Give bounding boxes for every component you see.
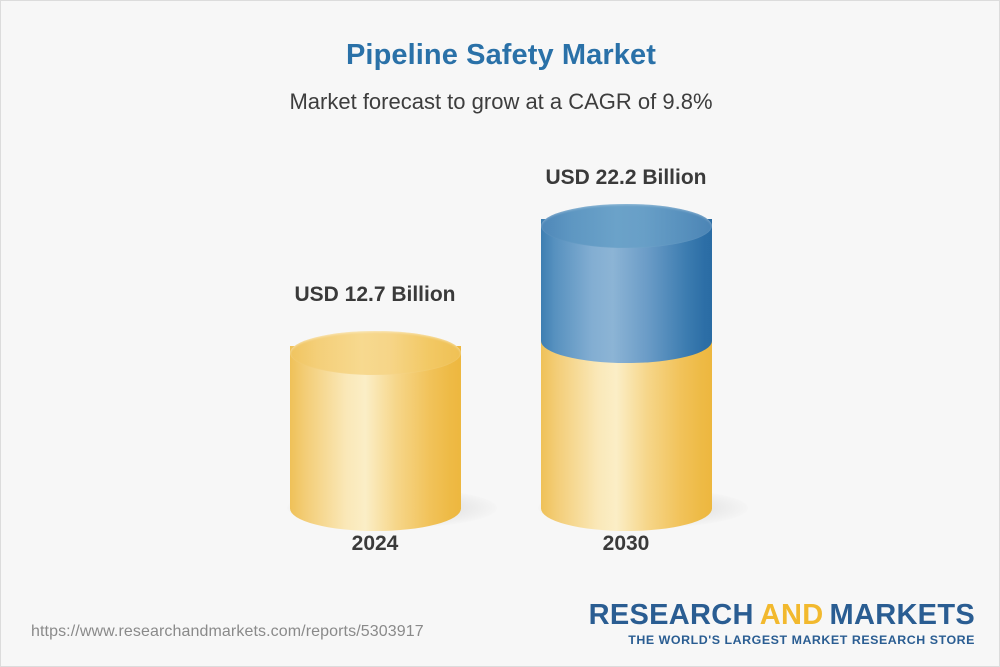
bar-segment-seam-fill-2030	[541, 319, 712, 363]
bar-body-lower-2030	[541, 341, 712, 509]
infographic-canvas: Pipeline Safety Market Market forecast t…	[0, 0, 1000, 667]
value-label-2024: USD 12.7 Billion	[255, 283, 495, 307]
logo-word-research: RESEARCH	[589, 599, 754, 631]
logo-wordmark: RESEARCHANDMARKETS	[589, 601, 975, 630]
research-and-markets-logo: RESEARCHANDMARKETS THE WORLD'S LARGEST M…	[589, 601, 975, 646]
chart-subtitle: Market forecast to grow at a CAGR of 9.8…	[1, 89, 1000, 115]
bar-top-cap-2024	[290, 331, 461, 375]
bar-top-cap-2030	[541, 204, 712, 248]
logo-word-and: AND	[760, 599, 824, 631]
logo-word-markets: MARKETS	[830, 599, 976, 631]
category-label-2024: 2024	[255, 532, 495, 556]
logo-tagline: THE WORLD'S LARGEST MARKET RESEARCH STOR…	[589, 634, 975, 646]
bar-body-lower-fill-2030	[541, 341, 712, 509]
bar-segment-seam-2030	[541, 319, 712, 363]
category-label-2030: 2030	[506, 532, 746, 556]
source-url[interactable]: https://www.researchandmarkets.com/repor…	[31, 623, 424, 641]
value-label-2030: USD 22.2 Billion	[506, 166, 746, 190]
chart-title: Pipeline Safety Market	[1, 39, 1000, 72]
